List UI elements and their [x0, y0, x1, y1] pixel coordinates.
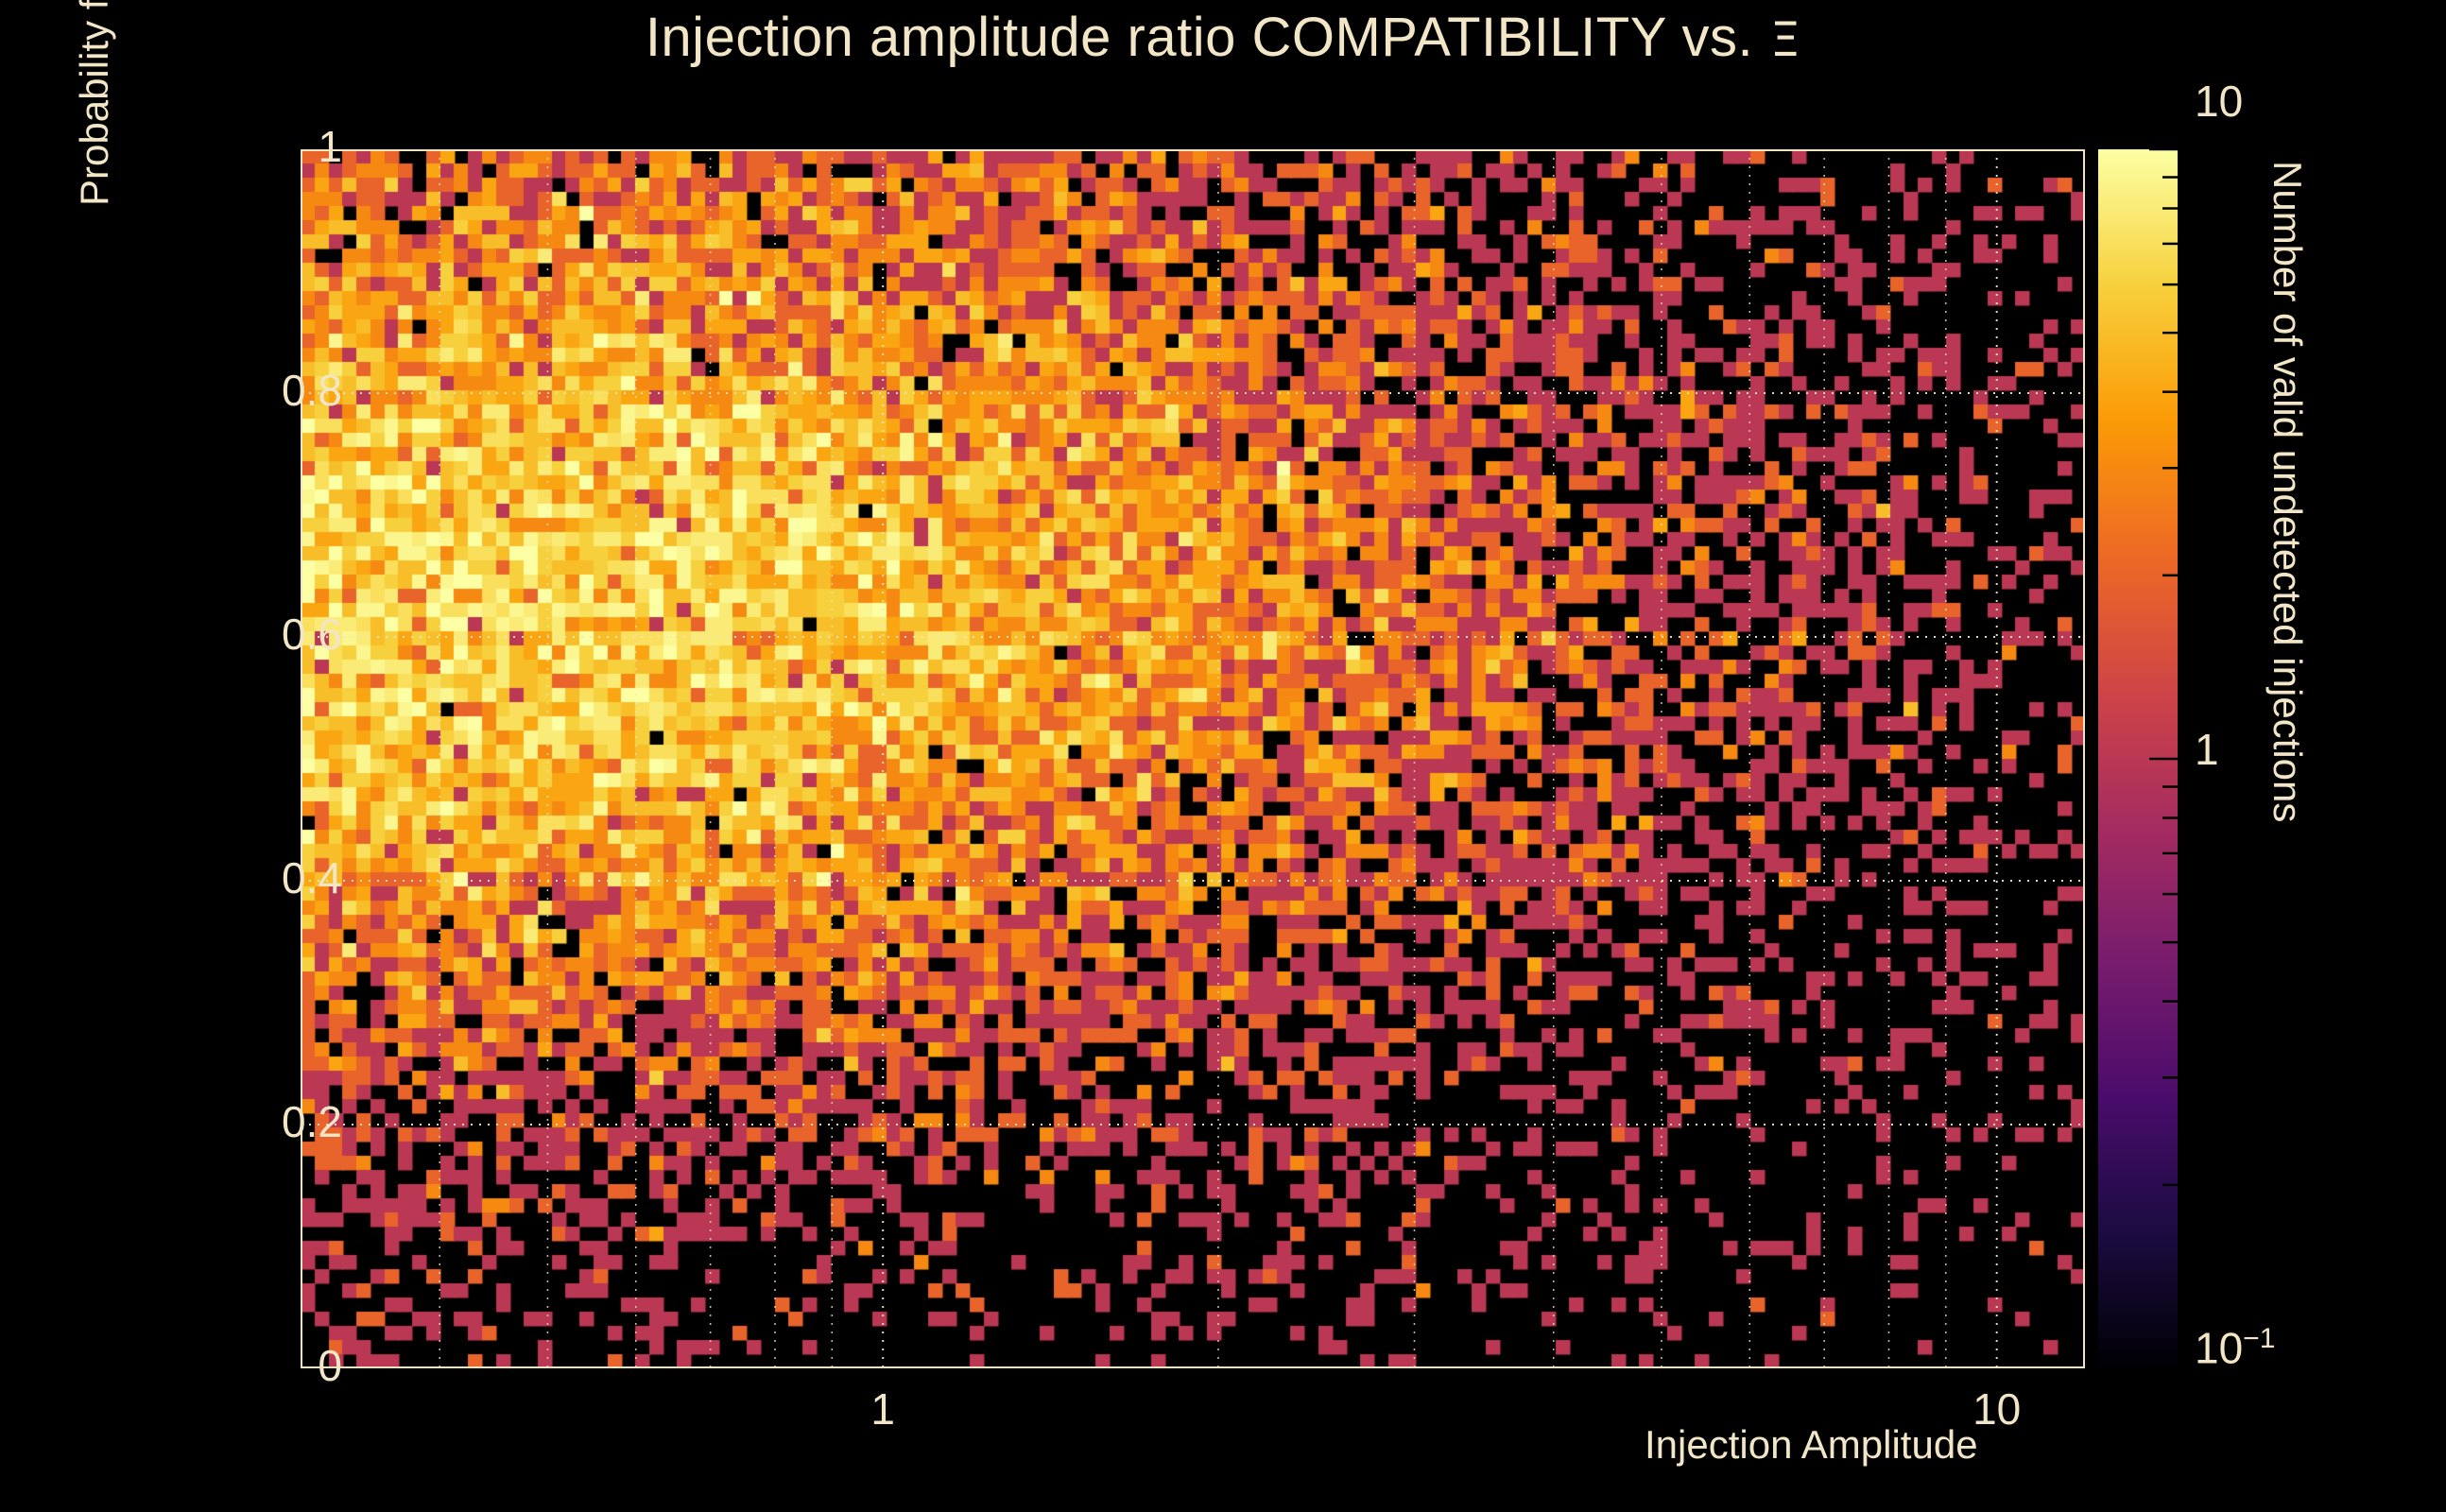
colorbar-label-mid: 1 — [2195, 728, 2219, 771]
colorbar-gradient — [2098, 149, 2178, 1368]
plot-title-text: Injection amplitude ratio COMPATIBILITY … — [646, 7, 1753, 68]
colorbar — [2098, 149, 2178, 1368]
x-axis-title: Injection Amplitude — [1645, 1425, 1978, 1465]
xi-symbol: Ξ — [1753, 12, 1800, 67]
y-tick-label: 0.4 — [282, 856, 342, 900]
colorbar-title: Number of valid undetected injections — [2261, 161, 2314, 1257]
colorbar-label-top: 10 — [2195, 79, 2243, 123]
y-tick-label: 0.8 — [282, 369, 342, 412]
colorbar-label-bottom-exponent: −1 — [2243, 1323, 2275, 1354]
heatmap-canvas — [301, 149, 2085, 1368]
colorbar-label-bottom-base: 10 — [2195, 1323, 2243, 1372]
y-tick-label: 0 — [318, 1344, 342, 1387]
y-tick-label: 0.6 — [282, 612, 342, 656]
y-tick-label: 0.2 — [282, 1100, 342, 1143]
page-title: Injection amplitude ratio COMPATIBILITY … — [0, 6, 2446, 69]
plot-area — [301, 149, 2085, 1368]
figure-root: Injection amplitude ratio COMPATIBILITY … — [0, 0, 2446, 1512]
x-tick-label: 1 — [826, 1387, 939, 1431]
y-axis-title: Probability for event amplitude ratios t… — [66, 0, 123, 206]
colorbar-label-bottom: 10−1 — [2195, 1325, 2275, 1369]
y-tick-label: 1 — [318, 125, 342, 168]
